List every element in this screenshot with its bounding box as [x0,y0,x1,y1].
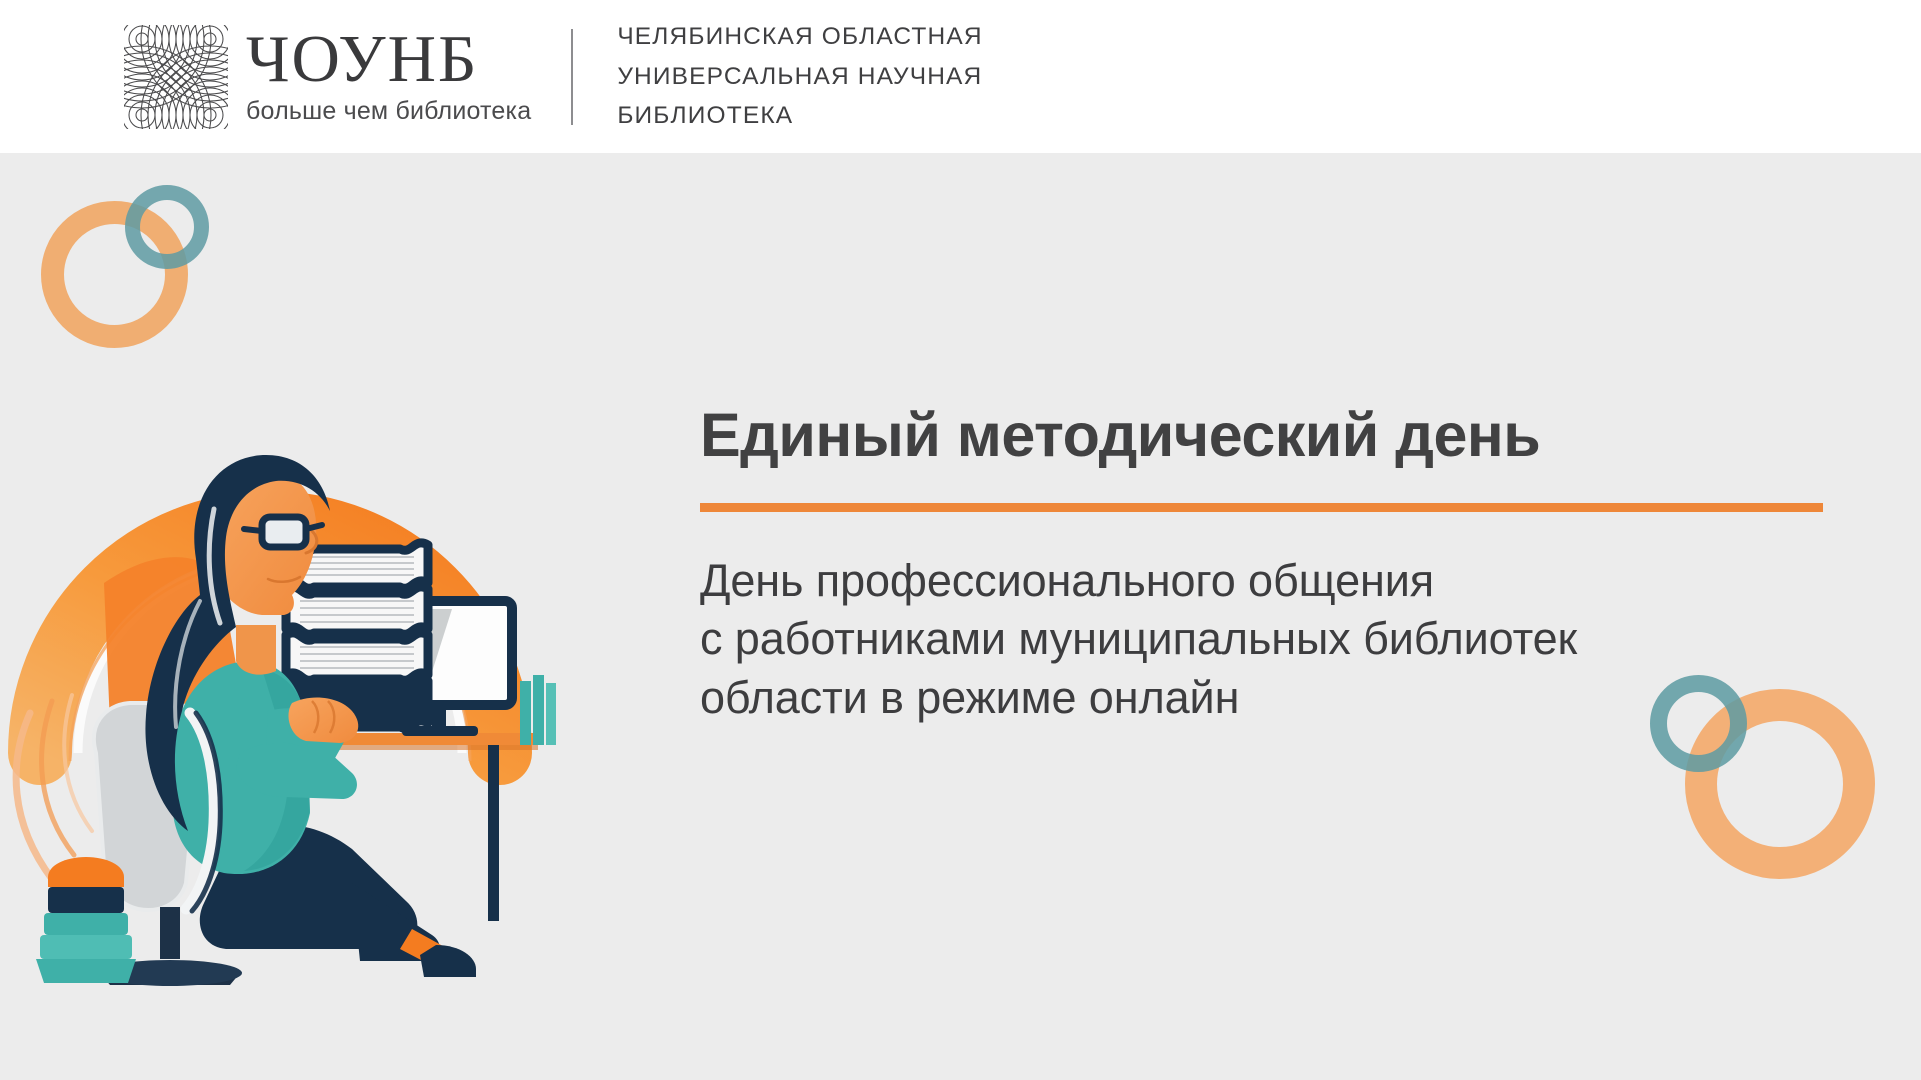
logo-tagline: больше чем библиотека [246,98,531,126]
page-subtitle-line-1: День профессионального общения [700,552,1830,611]
page-title: Единый методический день [700,403,1830,469]
organization-name: ЧЕЛЯБИНСКАЯ ОБЛАСТНАЯ УНИВЕРСАЛЬНАЯ НАУЧ… [617,17,982,136]
main-text-block: Единый методический день День профессион… [700,403,1830,727]
library-logo[interactable]: ЧОУНБ больше чем библиотека [124,22,531,132]
slide-body: Единый методический день День профессион… [0,153,1921,1080]
organization-name-line-1: ЧЕЛЯБИНСКАЯ ОБЛАСТНАЯ [617,17,982,57]
librarian-at-desk-with-books-illustration [0,283,560,1003]
choonb-moire-logo-mark [124,25,228,129]
ring-top-left-teal [125,185,209,269]
header-divider [571,29,573,125]
title-underline-rule [700,503,1823,512]
organization-name-line-2: УНИВЕРСАЛЬНАЯ НАУЧНАЯ [617,57,982,97]
page-header: ЧОУНБ больше чем библиотека ЧЕЛЯБИНСКАЯ … [0,0,1921,153]
slide-root: ЧОУНБ больше чем библиотека ЧЕЛЯБИНСКАЯ … [0,0,1921,1080]
page-subtitle: День профессионального общения с работни… [700,552,1830,728]
logo-acronym: ЧОУНБ [246,28,531,92]
page-subtitle-line-2: с работниками муниципальных библиотек [700,610,1830,669]
organization-name-line-3: БИБЛИОТЕКА [617,96,982,136]
page-subtitle-line-3: области в режиме онлайн [700,669,1830,728]
logo-wordmark: ЧОУНБ больше чем библиотека [246,25,531,129]
